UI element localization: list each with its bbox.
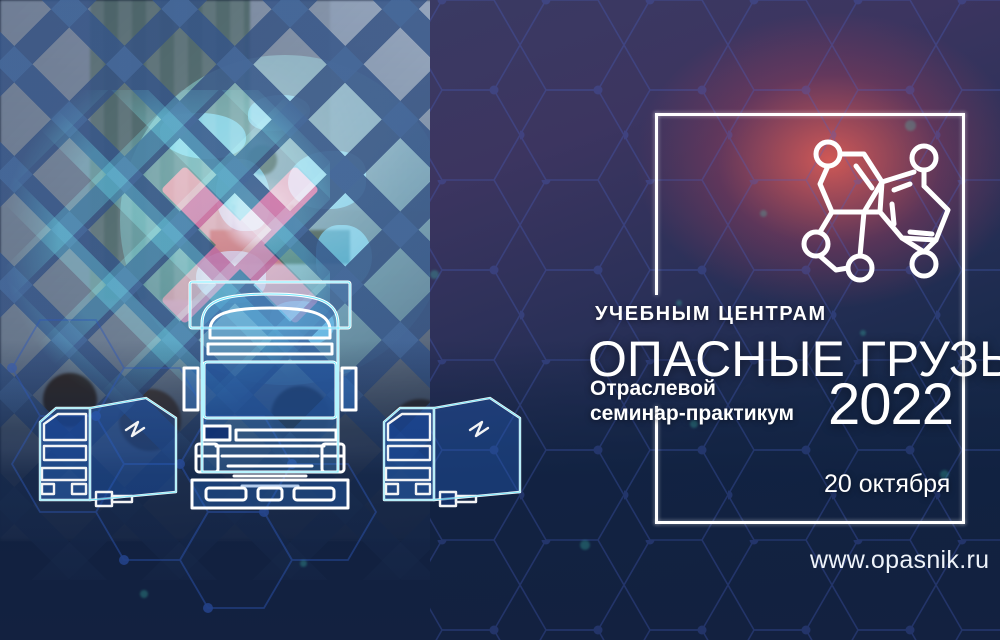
particle	[580, 540, 590, 550]
particle	[140, 590, 148, 598]
subtitle-text: Отраслевой семинар-практикум	[590, 376, 794, 426]
subtitle-line-1: Отраслевой	[590, 376, 794, 401]
truck-box-left-icon	[28, 388, 188, 520]
truck-box-right-icon	[372, 388, 532, 520]
event-banner: УЧЕБНЫМ ЦЕНТРАМ ОПАСНЫЕ ГРУЗЫ Отраслевой…	[0, 0, 1000, 640]
subtitle-line-2: семинар-практикум	[590, 401, 794, 426]
website-link[interactable]: www.opasnik.ru	[810, 546, 989, 575]
truck-front-icon	[176, 276, 364, 526]
kicker-text: УЧЕБНЫМ ЦЕНТРАМ	[595, 303, 827, 326]
event-date: 20 октября	[824, 470, 950, 499]
year-text: 2022	[828, 371, 953, 438]
particle	[760, 210, 767, 217]
particle	[430, 270, 439, 279]
particle	[300, 560, 307, 567]
molecule-icon	[798, 128, 958, 288]
